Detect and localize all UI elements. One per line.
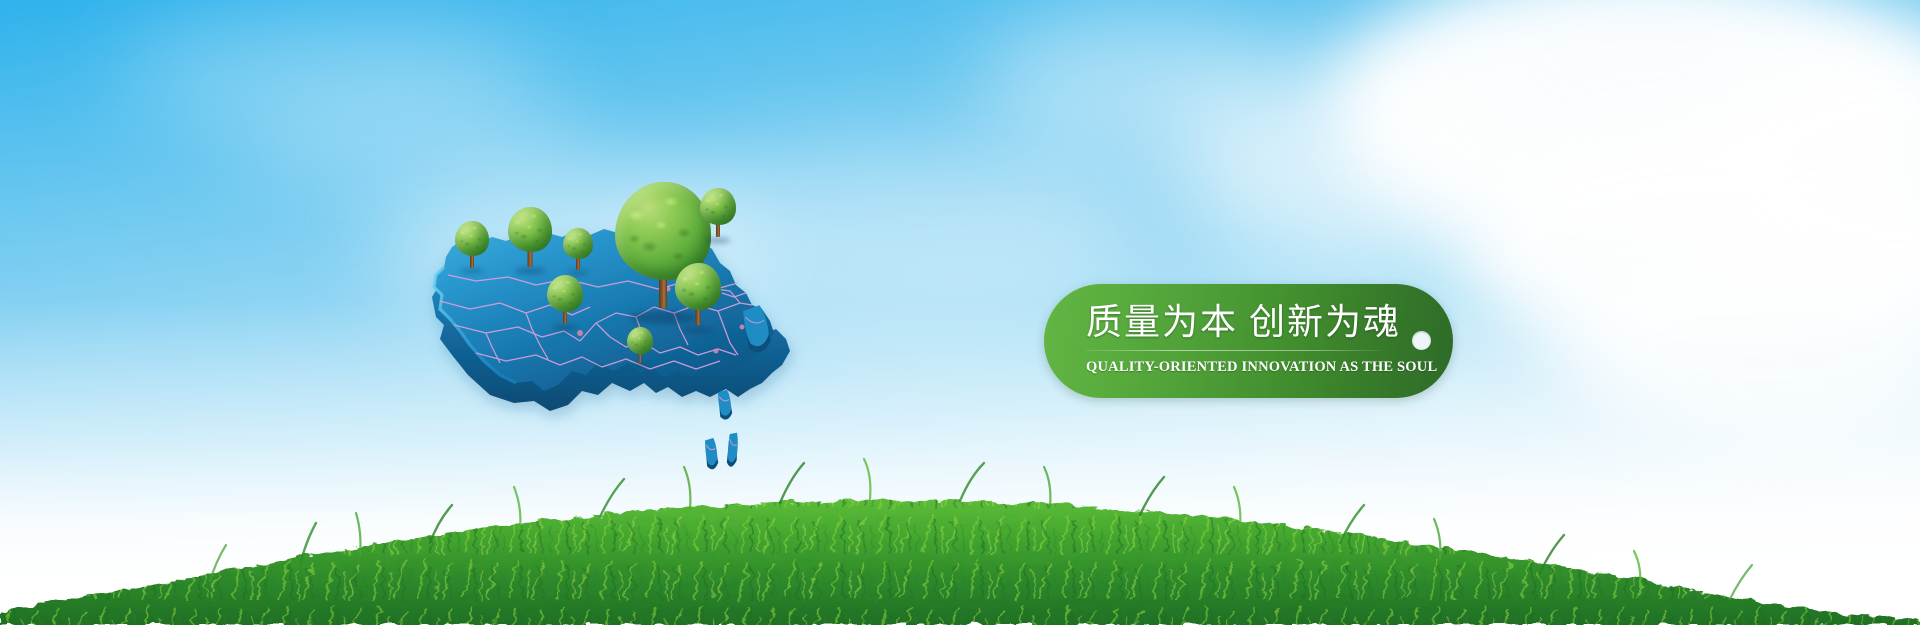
slogan-badge-inner: 质量为本 创新为魂 QUALITY-ORIENTED INNOVATION AS…: [1044, 284, 1453, 398]
tree-crown: [700, 188, 736, 225]
hero-banner: 质量为本 创新为魂 QUALITY-ORIENTED INNOVATION AS…: [0, 0, 1920, 625]
tree-crown: [563, 228, 593, 259]
grass-svg: [0, 415, 1920, 625]
slogan-badge[interactable]: 质量为本 创新为魂 QUALITY-ORIENTED INNOVATION AS…: [1044, 284, 1453, 398]
tree-shadow: [515, 268, 546, 274]
tree-south-small: [627, 327, 653, 366]
tree-shadow: [705, 238, 730, 243]
tree-northeast: [700, 188, 736, 241]
tree-crown: [455, 221, 489, 256]
tree-east-small: [563, 228, 593, 273]
slogan-divider: [1086, 350, 1382, 351]
badge-hole-icon: [1412, 331, 1431, 350]
slogan-subheading-en: QUALITY-ORIENTED INNOVATION AS THE SOUL: [1086, 359, 1386, 376]
grass-mound: [0, 501, 1920, 625]
tree-shadow: [631, 364, 649, 368]
tree-crown: [508, 207, 552, 252]
tree-southwest: [547, 275, 583, 328]
tree-north-mid: [508, 207, 552, 271]
slogan-heading-cn: 质量为本 创新为魂: [1086, 300, 1386, 344]
tree-crown: [675, 263, 721, 310]
tree-far-east: [675, 263, 721, 330]
tree-shadow: [552, 325, 577, 330]
tree-crown: [547, 275, 583, 312]
tree-northwest: [455, 221, 489, 271]
tree-shadow: [682, 327, 714, 333]
grass-hill: [0, 415, 1920, 625]
grass-blade-texture: [0, 501, 1920, 625]
tree-crown: [627, 327, 653, 354]
